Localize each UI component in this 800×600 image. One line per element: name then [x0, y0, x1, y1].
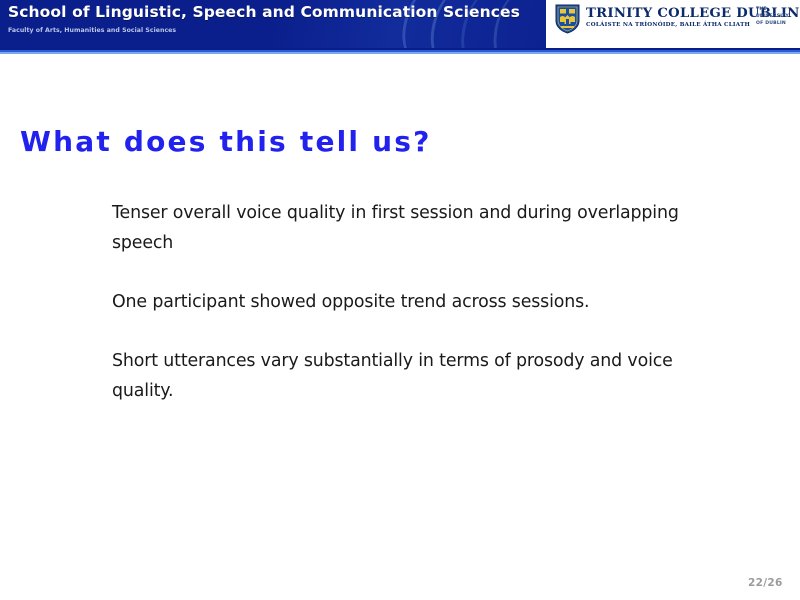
body-paragraph: One participant showed opposite trend ac…	[112, 287, 732, 317]
school-title: School of Linguistic, Speech and Communi…	[8, 3, 520, 21]
slide-header: School of Linguistic, Speech and Communi…	[0, 0, 800, 48]
trinity-irish-name: COLÁISTE NA TRÍONÓIDE, BAILE ÁTHA CLIATH	[586, 22, 750, 28]
university-line-2: UNIVERSITY	[756, 14, 789, 21]
presentation-slide: School of Linguistic, Speech and Communi…	[0, 0, 800, 600]
university-of-dublin-label: THE UNIVERSITY OF DUBLIN	[756, 7, 789, 28]
faculty-subtitle: Faculty of Arts, Humanities and Social S…	[8, 27, 176, 34]
university-line-1: THE	[756, 7, 789, 14]
body-paragraph: Tenser overall voice quality in first se…	[112, 198, 732, 258]
slide-body: Tenser overall voice quality in first se…	[112, 198, 732, 406]
header-rule-light	[0, 52, 800, 54]
slide-title: What does this tell us?	[20, 125, 432, 158]
body-paragraph: Short utterances vary substantially in t…	[112, 346, 732, 406]
trinity-crest-icon	[555, 4, 580, 34]
header-blue-banner: School of Linguistic, Speech and Communi…	[0, 0, 546, 48]
university-line-3: OF DUBLIN	[756, 21, 789, 28]
page-number: 22/26	[748, 577, 783, 589]
trinity-college-dublin-logo: TRINITY COLLEGE DUBLIN COLÁISTE NA TRÍON…	[553, 2, 798, 38]
